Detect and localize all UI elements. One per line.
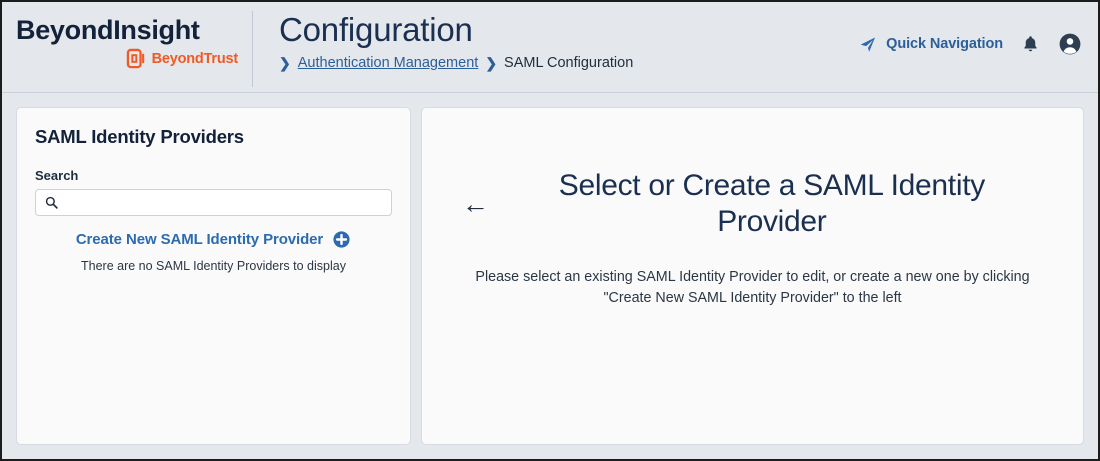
empty-state-message: There are no SAML Identity Providers to … — [35, 259, 392, 273]
brand-block: BeyondInsight BeyondTrust — [2, 2, 252, 69]
company-logo: BeyondTrust — [16, 48, 252, 69]
detail-panel: ← Select or Create a SAML Identity Provi… — [421, 107, 1084, 445]
chevron-right-icon: ❯ — [485, 56, 497, 70]
search-input[interactable] — [35, 189, 392, 216]
search-icon — [44, 195, 59, 210]
create-new-saml-identity-provider-button[interactable]: Create New SAML Identity Provider — [35, 230, 392, 249]
detail-panel-description: Please select an existing SAML Identity … — [462, 267, 1043, 310]
app-header: BeyondInsight BeyondTrust Configuration … — [2, 2, 1098, 93]
detail-panel-heading: ← Select or Create a SAML Identity Provi… — [462, 168, 1043, 240]
user-avatar-icon[interactable] — [1058, 32, 1082, 56]
quick-navigation-button[interactable]: Quick Navigation — [858, 35, 1003, 54]
beyondtrust-logo-icon — [126, 48, 147, 69]
create-button-label: Create New SAML Identity Provider — [76, 231, 323, 248]
detail-panel-heading-text: Select or Create a SAML Identity Provide… — [501, 168, 1043, 240]
company-name: BeyondTrust — [152, 51, 238, 67]
saml-identity-providers-panel: SAML Identity Providers Search Create Ne… — [16, 107, 411, 445]
quick-navigation-label: Quick Navigation — [886, 36, 1003, 52]
chevron-right-icon: ❯ — [279, 56, 291, 70]
panel-title: SAML Identity Providers — [35, 126, 392, 148]
bell-icon[interactable] — [1021, 33, 1040, 55]
breadcrumb: ❯ Authentication Management ❯ SAML Confi… — [279, 55, 1098, 71]
search-field-wrapper — [35, 189, 392, 216]
page-body: SAML Identity Providers Search Create Ne… — [2, 93, 1098, 459]
search-label: Search — [35, 168, 392, 183]
paper-plane-icon — [858, 35, 877, 54]
breadcrumb-link-authentication-management[interactable]: Authentication Management — [298, 55, 479, 71]
breadcrumb-current-saml-configuration: SAML Configuration — [504, 55, 633, 71]
product-name: BeyondInsight — [16, 16, 252, 44]
beyondinsight-app-window: BeyondInsight BeyondTrust Configuration … — [0, 0, 1100, 461]
arrow-left-icon[interactable]: ← — [462, 191, 489, 218]
header-actions: Quick Navigation — [858, 32, 1082, 56]
plus-circle-icon — [332, 230, 351, 249]
